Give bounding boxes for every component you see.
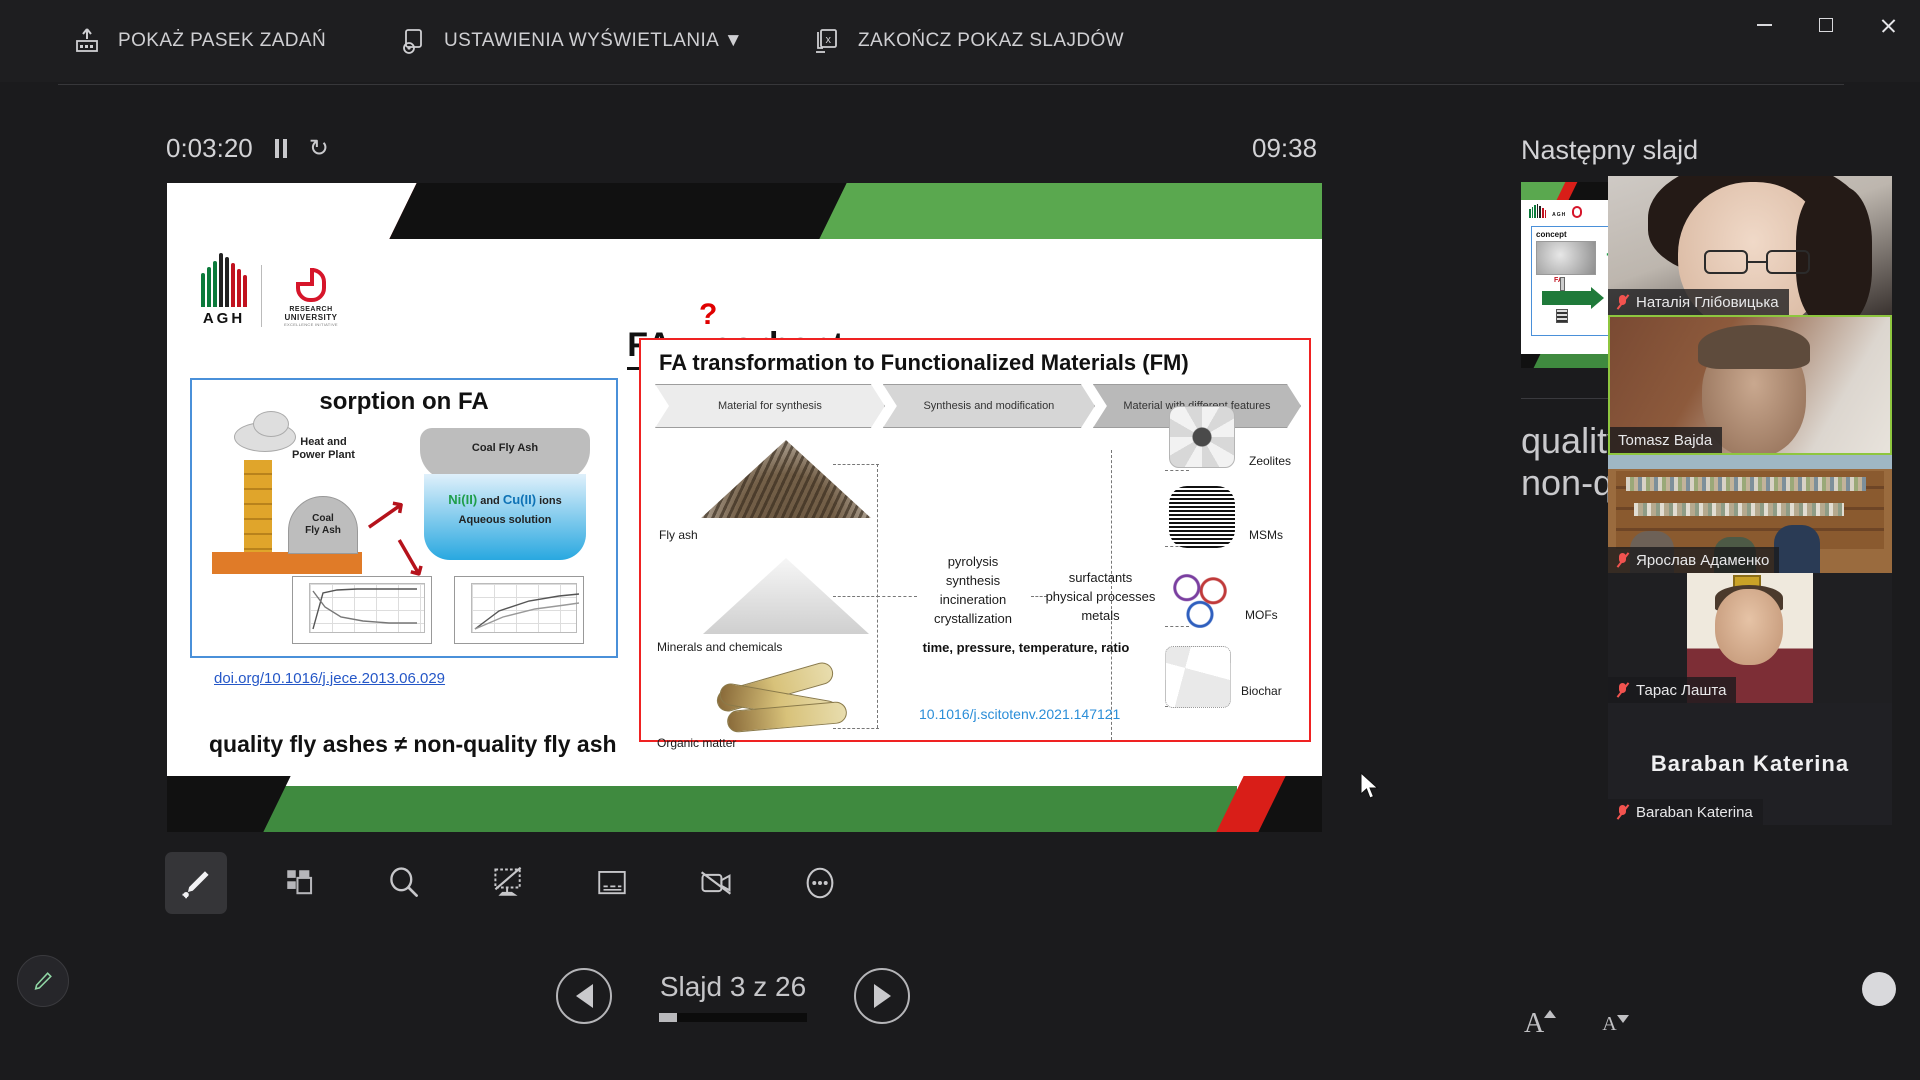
pause-icon[interactable] xyxy=(275,139,287,158)
sorption-panel: sorption on FA Heat andPower Plant CoalF… xyxy=(190,378,618,658)
thumb-concept-label: concept xyxy=(1536,230,1567,239)
slide-top-band xyxy=(167,183,1322,239)
thumb-micrograph-1 xyxy=(1536,241,1596,275)
slide-footer-text: quality fly ashes ≠ non-quality fly ash xyxy=(209,731,617,758)
doi-link-left[interactable]: doi.org/10.1016/j.jece.2013.06.029 xyxy=(214,670,445,687)
participant-tile[interactable]: Ярослав Адаменко xyxy=(1608,455,1892,573)
end-slideshow-icon: x xyxy=(812,26,842,56)
wall-clock: 09:38 xyxy=(1252,133,1317,164)
display-settings-icon xyxy=(398,26,428,56)
fly-ash-pile-image xyxy=(701,440,871,518)
band-green-bottom xyxy=(227,786,1237,832)
participant-name: Тарас Лашта xyxy=(1636,682,1726,699)
ru-line2: UNIVERSITY xyxy=(284,313,337,322)
ru-line3: EXCELLENCE INITIATIVE xyxy=(284,322,338,327)
chevron-step-2: Synthesis and modification xyxy=(883,384,1095,428)
beaker-liquid: Ni(II) and Cu(II) ions Aqueous solution xyxy=(424,474,586,560)
participant-name: Baraban Katerina xyxy=(1636,804,1753,821)
thumb-cell-icon xyxy=(1556,309,1568,323)
increase-font-glyph: A xyxy=(1524,1008,1544,1039)
beaker-top: Coal Fly Ash xyxy=(420,428,590,480)
presenter-top-bar: POKAŻ PASEK ZADAŃ USTAWIENIA WYŚWIETLANI… xyxy=(0,0,1920,82)
organic-matter-image xyxy=(709,672,859,734)
subtitles-icon[interactable] xyxy=(581,852,643,914)
thumb-ru-icon xyxy=(1572,206,1582,218)
participant-tile[interactable]: Baraban Katerina Baraban Katerina xyxy=(1608,703,1892,825)
cu-label: Cu(II) xyxy=(503,492,536,507)
participant-name: Наталія Глібовицька xyxy=(1636,294,1779,311)
end-slideshow-label: ZAKOŃCZ POKAZ SLAJDÓW xyxy=(858,30,1124,52)
decrease-font-button[interactable]: A xyxy=(1602,1013,1616,1036)
mof-structure-icon xyxy=(1167,566,1233,628)
end-slideshow-button[interactable]: x ZAKOŃCZ POKAZ SLAJDÓW xyxy=(812,26,1124,56)
flow-line xyxy=(1165,470,1189,471)
mic-off-icon xyxy=(1616,552,1629,568)
next-slide-heading: Następny slajd xyxy=(1521,135,1698,166)
participant-name-badge: Наталія Глібовицька xyxy=(1608,289,1789,315)
doi-link-right[interactable]: 10.1016/j.scitotenv.2021.147121 xyxy=(919,706,1120,722)
msm-structure-icon xyxy=(1169,486,1235,548)
show-taskbar-label: POKAŻ PASEK ZADAŃ xyxy=(118,30,326,52)
flow-line xyxy=(833,728,879,729)
coal-fly-ash-dome: CoalFly Ash xyxy=(288,496,358,554)
band-black xyxy=(389,183,846,239)
logo-separator xyxy=(261,265,262,327)
slide-counter: Slajd 3 z 26 xyxy=(638,971,828,1022)
participant-tile[interactable]: Тарас Лашта xyxy=(1608,573,1892,703)
ru-glyph-icon xyxy=(296,268,326,302)
next-slide-icon[interactable] xyxy=(854,968,910,1024)
agh-mark: AGH xyxy=(201,253,247,327)
research-university-mark: RESEARCH UNIVERSITY EXCELLENCE INITIATIV… xyxy=(276,268,346,327)
flow-line xyxy=(833,464,879,465)
sorption-panel-title: sorption on FA xyxy=(192,388,616,416)
avatar[interactable] xyxy=(1862,972,1896,1006)
all-slides-icon[interactable] xyxy=(269,852,331,914)
participant-name-badge: Tomasz Bajda xyxy=(1610,427,1722,453)
participant-name-badge: Ярослав Адаменко xyxy=(1608,547,1779,573)
thumb-logo: AGH xyxy=(1529,204,1582,218)
plant-base xyxy=(212,552,362,574)
slide-counter-label: Slajd 3 z 26 xyxy=(660,971,806,1003)
display-settings-button[interactable]: USTAWIENIA WYŚWIETLANIA ▼ xyxy=(398,26,743,56)
ions-label: ions xyxy=(536,495,562,507)
input-label-organic: Organic matter xyxy=(657,736,736,750)
biochar-structure-icon xyxy=(1165,646,1231,708)
pen-laser-icon[interactable] xyxy=(165,852,227,914)
slide-bottom-band xyxy=(167,776,1322,832)
process-list-2: surfactantsphysical processesmetals xyxy=(1033,568,1168,625)
product-label-zeolites: Zeolites xyxy=(1249,454,1291,468)
product-label-mofs: MOFs xyxy=(1245,608,1278,622)
participant-tile[interactable]: Наталія Глібовицька xyxy=(1608,176,1892,315)
maximize-icon[interactable] xyxy=(1803,6,1849,44)
toolbar-divider xyxy=(58,84,1844,85)
ion-label: Ni(II) and Cu(II) ions xyxy=(424,492,586,507)
flow-line xyxy=(877,596,917,597)
fa-transformation-title: FA transformation to Functionalized Mate… xyxy=(659,350,1189,376)
caret-down-icon xyxy=(1617,1015,1629,1023)
and-label: and xyxy=(477,495,503,507)
presenter-tools xyxy=(165,852,851,914)
zeolite-structure-icon xyxy=(1169,406,1235,468)
smokestack xyxy=(244,460,272,552)
participant-name: Tomasz Bajda xyxy=(1618,432,1712,449)
thumb-thermometer-icon xyxy=(1560,277,1565,291)
minimize-icon[interactable] xyxy=(1741,6,1787,44)
svg-text:x: x xyxy=(826,34,832,46)
product-label-biochar: Biochar xyxy=(1241,684,1282,698)
caret-up-icon xyxy=(1544,1010,1556,1018)
reset-icon[interactable]: ↻ xyxy=(309,134,329,163)
beaker-top-label: Coal Fly Ash xyxy=(420,442,590,454)
mic-off-icon xyxy=(1616,804,1629,820)
mic-off-icon xyxy=(1616,294,1629,310)
process-parameters: time, pressure, temperature, ratio xyxy=(911,640,1141,655)
power-plant-label: Heat andPower Plant xyxy=(292,436,355,462)
slide-progress-bar[interactable] xyxy=(659,1013,807,1022)
slide-navigation: Slajd 3 z 26 xyxy=(556,968,910,1024)
annotate-pen-icon[interactable] xyxy=(17,955,69,1007)
smoke-cloud-icon xyxy=(234,422,296,452)
thumb-agh-text: AGH xyxy=(1552,212,1566,218)
presenter-timer-row: 0:03:20 ↻ xyxy=(166,133,329,164)
increase-font-button[interactable]: A xyxy=(1524,1008,1544,1040)
elapsed-timer: 0:03:20 xyxy=(166,133,253,164)
input-label-fly-ash: Fly ash xyxy=(659,528,698,542)
input-label-minerals: Minerals and chemicals xyxy=(657,640,782,654)
display-settings-label: USTAWIENIA WYŚWIETLANIA ▼ xyxy=(444,30,743,52)
current-slide[interactable]: AGH RESEARCH UNIVERSITY EXCELLENCE INITI… xyxy=(167,183,1322,832)
aqueous-label: Aqueous solution xyxy=(424,514,586,526)
ru-line1: RESEARCH xyxy=(289,306,332,313)
magnifier-icon[interactable] xyxy=(373,852,435,914)
participant-name-badge: Тарас Лашта xyxy=(1608,677,1736,703)
screen-off-icon[interactable] xyxy=(477,852,539,914)
prev-slide-icon[interactable] xyxy=(556,968,612,1024)
font-size-controls: A A xyxy=(1524,1008,1617,1040)
more-options-icon[interactable] xyxy=(789,852,851,914)
agh-logo: AGH RESEARCH UNIVERSITY EXCELLENCE INITI… xyxy=(201,253,346,327)
participant-name: Ярослав Адаменко xyxy=(1636,552,1769,569)
agh-text: AGH xyxy=(203,310,245,327)
participant-display-name: Baraban Katerina xyxy=(1651,751,1849,777)
thumb-green-arrow-icon xyxy=(1542,291,1592,305)
question-mark: ? xyxy=(699,298,717,332)
sorption-chart-1 xyxy=(292,576,432,644)
beaker-diagram: Coal Fly Ash Ni(II) and Cu(II) ions Aque… xyxy=(420,428,590,560)
sorption-chart-2 xyxy=(454,576,584,644)
flow-line xyxy=(833,596,879,597)
participant-tile[interactable]: Tomasz Bajda xyxy=(1608,315,1892,455)
show-taskbar-button[interactable]: POKAŻ PASEK ZADAŃ xyxy=(72,26,326,56)
taskbar-icon xyxy=(72,26,102,56)
chevron-step-1: Material for synthesis xyxy=(655,384,885,428)
participant-name-badge: Baraban Katerina xyxy=(1608,799,1763,825)
fa-transformation-panel: FA transformation to Functionalized Mate… xyxy=(639,338,1311,742)
mic-off-icon xyxy=(1616,682,1629,698)
camera-off-icon[interactable] xyxy=(685,852,747,914)
close-icon[interactable] xyxy=(1865,6,1911,44)
decrease-font-glyph: A xyxy=(1602,1013,1616,1035)
participant-video-list: Наталія Глібовицька Tomasz Bajda Ярослав… xyxy=(1608,176,1892,825)
ni-label: Ni(II) xyxy=(448,492,477,507)
process-list-1: pyrolysissynthesisincinerationcrystalliz… xyxy=(913,552,1033,628)
product-label-msms: MSMs xyxy=(1249,528,1283,542)
